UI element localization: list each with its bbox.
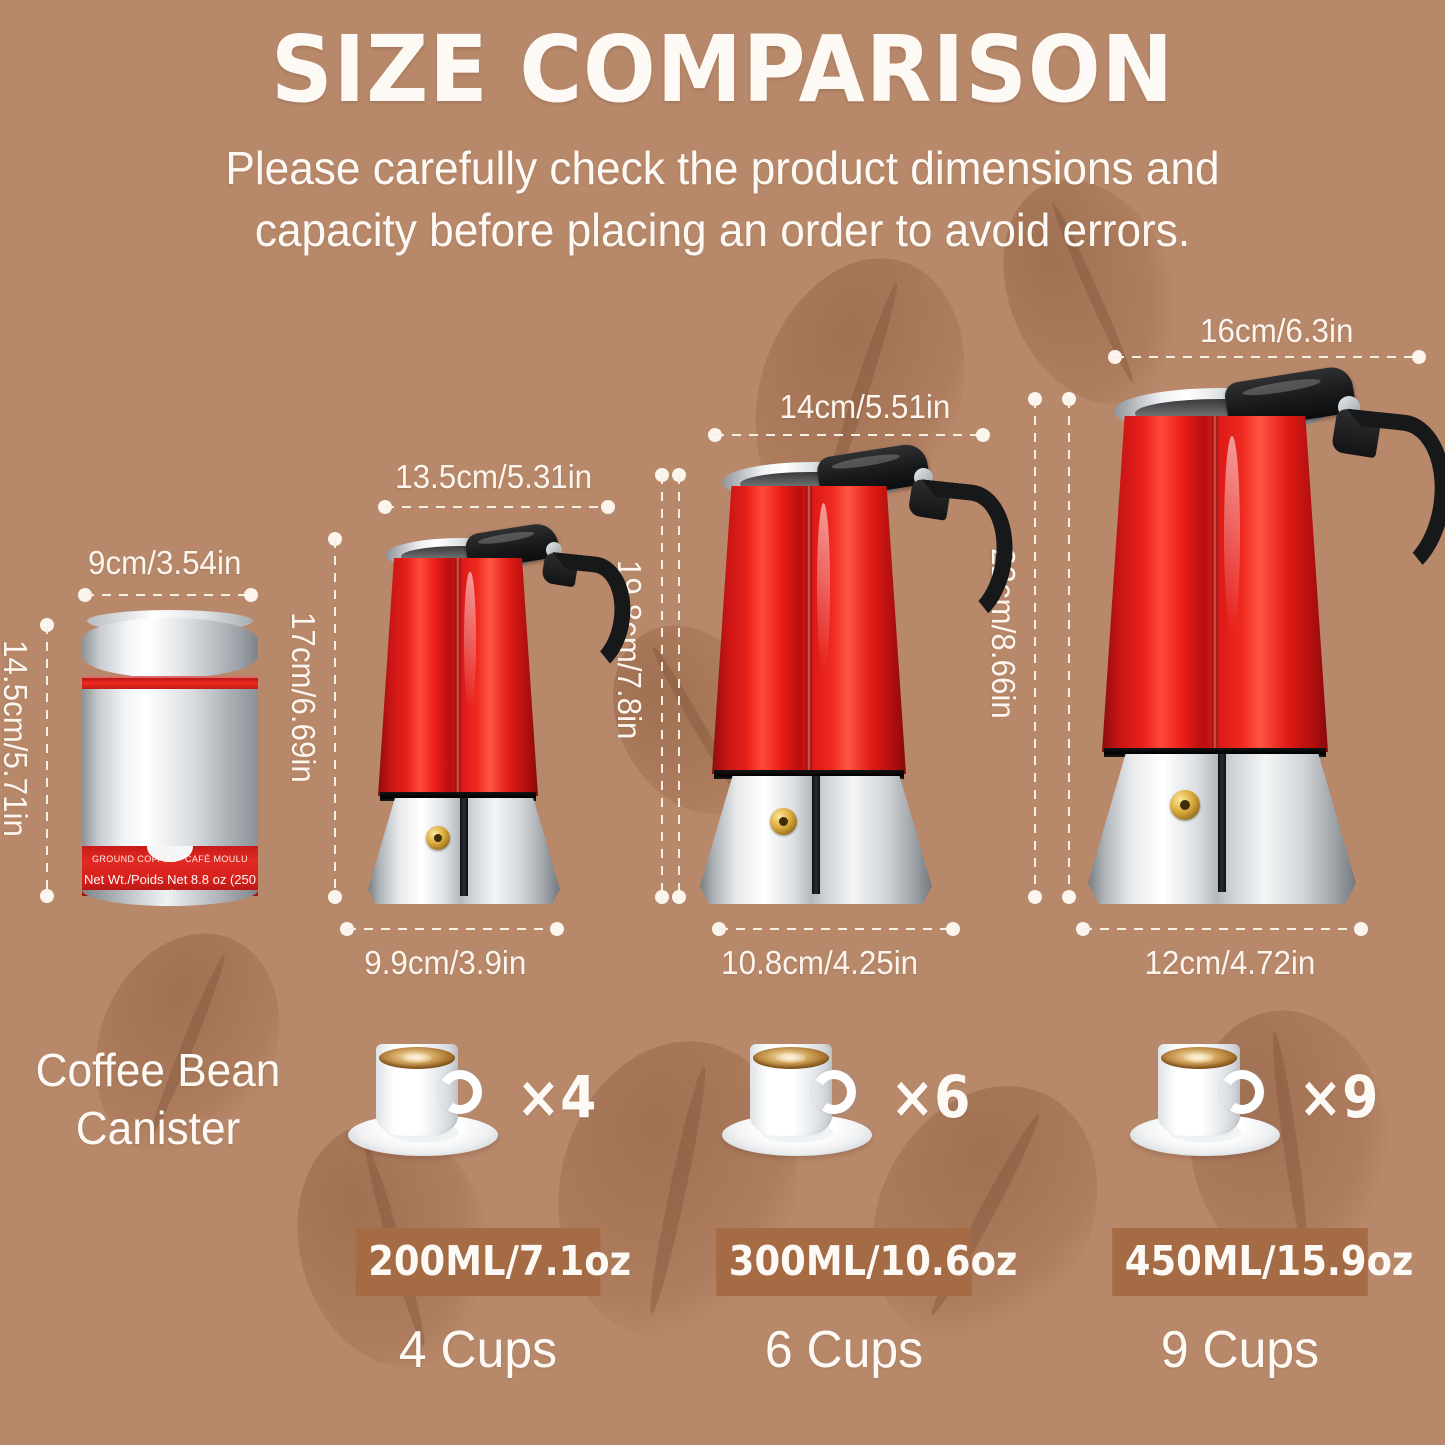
dim-dashed-line [347,928,557,930]
canister-label-left: GROUND COFFEE [92,854,176,864]
pot-2-handle [914,484,1012,628]
dim-endpoint [40,889,54,903]
pot-3-top-width-label: 16cm/6.3in [1200,312,1353,350]
page-title: SIZE COMPARISON [51,0,1395,119]
dim-dashed-line [678,475,680,897]
dim-dashed-line [85,594,251,596]
pot-1-height-right-dimension-line [655,468,669,904]
dim-endpoint [1028,890,1042,904]
pot-1-lower-seam [460,798,468,896]
subtitle-line-2: capacity before placing an order to avoi… [29,197,1416,260]
pot-1-lower-boiler [368,798,560,904]
moka-pot-4-cup [368,528,626,904]
dim-dashed-line [1115,356,1419,358]
canister-red-label: GROUND COFFEE CAFÉ MOULU Net Wt./Poids N… [82,846,258,896]
latte-art [402,1053,432,1063]
dim-endpoint [655,890,669,904]
pot-3-handle-hook [1330,409,1445,588]
pot-2-height-right-dimension-line [1028,392,1042,904]
coffee-surface [379,1047,455,1069]
pot-2-top-width-label: 14cm/5.51in [779,388,950,426]
canister-body [82,689,258,853]
pot-3-base-width-label: 12cm/4.72in [1144,944,1315,982]
pot-2-height-left-dimension-line [672,468,686,904]
capacity-badge-200ml: 200ML/7.1oz [356,1228,601,1296]
dim-dashed-line [334,539,336,897]
canister-base [82,890,258,906]
pot-3-safety-valve [1170,790,1200,820]
pot-1-top-width-label: 13.5cm/5.31in [395,458,592,496]
pot-1-base-width-dimension-line [340,922,564,936]
pot-1-handle [546,556,630,676]
latte-art [776,1053,806,1063]
pot-2-lower-boiler [700,776,932,904]
canister-width-label: 9cm/3.54in [88,544,241,582]
dim-endpoint [672,890,686,904]
canister-label-top-text: GROUND COFFEE CAFÉ MOULU [82,854,258,864]
pot-3-lower-seam [1218,754,1226,892]
cup-set-4: ×4 [348,1038,601,1156]
pot-2-upper-chamber [712,486,906,774]
coffee-surface [1161,1047,1237,1069]
pot-1-upper-chamber [378,558,538,796]
dim-dashed-line [385,506,608,508]
pot-3-height-left-dimension-line [1062,392,1076,904]
moka-pot-9-cup [1088,378,1436,904]
pot-3-lower-boiler [1088,754,1356,904]
subtitle-line-1: Please carefully check the product dimen… [29,119,1416,198]
pot-3-upper-chamber [1102,416,1328,752]
pot-2-top-width-dimension-line [708,428,990,442]
canister-lid [82,618,258,678]
dim-endpoint [1412,350,1426,364]
latte-art [1184,1053,1214,1063]
pot-2-handle-hook [907,479,1020,632]
pot-1-top-width-dimension-line [378,500,615,514]
cup-count-6: 6 Cups [708,1320,981,1380]
canister-width-dimension-line [78,588,258,602]
pot-1-gloss-highlight [464,572,475,710]
pot-3-handle [1338,414,1445,582]
dim-endpoint [328,890,342,904]
pot-2-seam [807,486,812,774]
dim-dashed-line [46,625,48,896]
cup-count-4: 4 Cups [347,1320,608,1380]
canister-height-label: 14.5cm/5.71in [0,640,34,837]
coffee-cup-icon [348,1038,498,1156]
cup-multiplier-6: ×6 [890,1063,970,1131]
dim-endpoint [550,922,564,936]
cup-count-9: 9 Cups [1104,1320,1377,1380]
pot-1-seam [456,558,461,796]
canister-red-band [82,676,258,689]
pot-2-safety-valve [770,808,797,835]
dim-endpoint [976,428,990,442]
cup-multiplier-9: ×9 [1298,1063,1378,1131]
pot-2-gloss-highlight [817,503,831,670]
dim-endpoint [1062,890,1076,904]
pot-3-gloss-highlight [1224,436,1240,631]
pot-2-base-width-dimension-line [712,922,960,936]
pot-3-seam [1213,416,1218,752]
coffee-surface [753,1047,829,1069]
coffee-bean-canister: GROUND COFFEE CAFÉ MOULU Net Wt./Poids N… [82,618,258,903]
dim-endpoint [1354,922,1368,936]
dim-dashed-line [1034,399,1036,897]
dim-dashed-line [719,928,953,930]
pot-1-handle-hook [540,552,636,680]
pot-3-top-width-dimension-line [1108,350,1426,364]
pot-3-base-width-dimension-line [1076,922,1368,936]
size-comparison-infographic: SIZE COMPARISON Please carefully check t… [0,0,1445,1445]
pot-1-height-left-dimension-line [328,532,342,904]
cup-set-6: ×6 [722,1038,975,1156]
dim-dashed-line [1083,928,1361,930]
cup-multiplier-4: ×4 [516,1063,596,1131]
dim-dashed-line [661,475,663,897]
coffee-cup-icon [722,1038,872,1156]
dim-dashed-line [1068,399,1070,897]
dim-endpoint [946,922,960,936]
pot-1-height-left-label: 17cm/6.69in [284,612,322,783]
dim-endpoint [244,588,258,602]
dim-dashed-line [715,434,983,436]
header: SIZE COMPARISON Please carefully check t… [0,0,1445,260]
capacity-badge-450ml: 450ML/15.9oz [1112,1228,1368,1296]
coffee-cup-icon [1130,1038,1280,1156]
canister-height-dimension-line [40,618,54,903]
canister-label-right: CAFÉ MOULU [185,854,248,864]
pot-2-lower-seam [812,776,820,894]
pot-1-safety-valve [426,826,450,850]
canister-caption: Coffee Bean Canister [16,1042,300,1158]
cup-set-9: ×9 [1130,1038,1383,1156]
pot-1-base-width-label: 9.9cm/3.9in [364,944,526,982]
moka-pot-6-cup [700,452,1000,904]
dim-endpoint [601,500,615,514]
canister-caption-line-2: Canister [16,1100,300,1158]
pot-2-base-width-label: 10.8cm/4.25in [721,944,918,982]
canister-caption-line-1: Coffee Bean [16,1042,300,1100]
capacity-badge-300ml: 300ML/10.6oz [716,1228,972,1296]
